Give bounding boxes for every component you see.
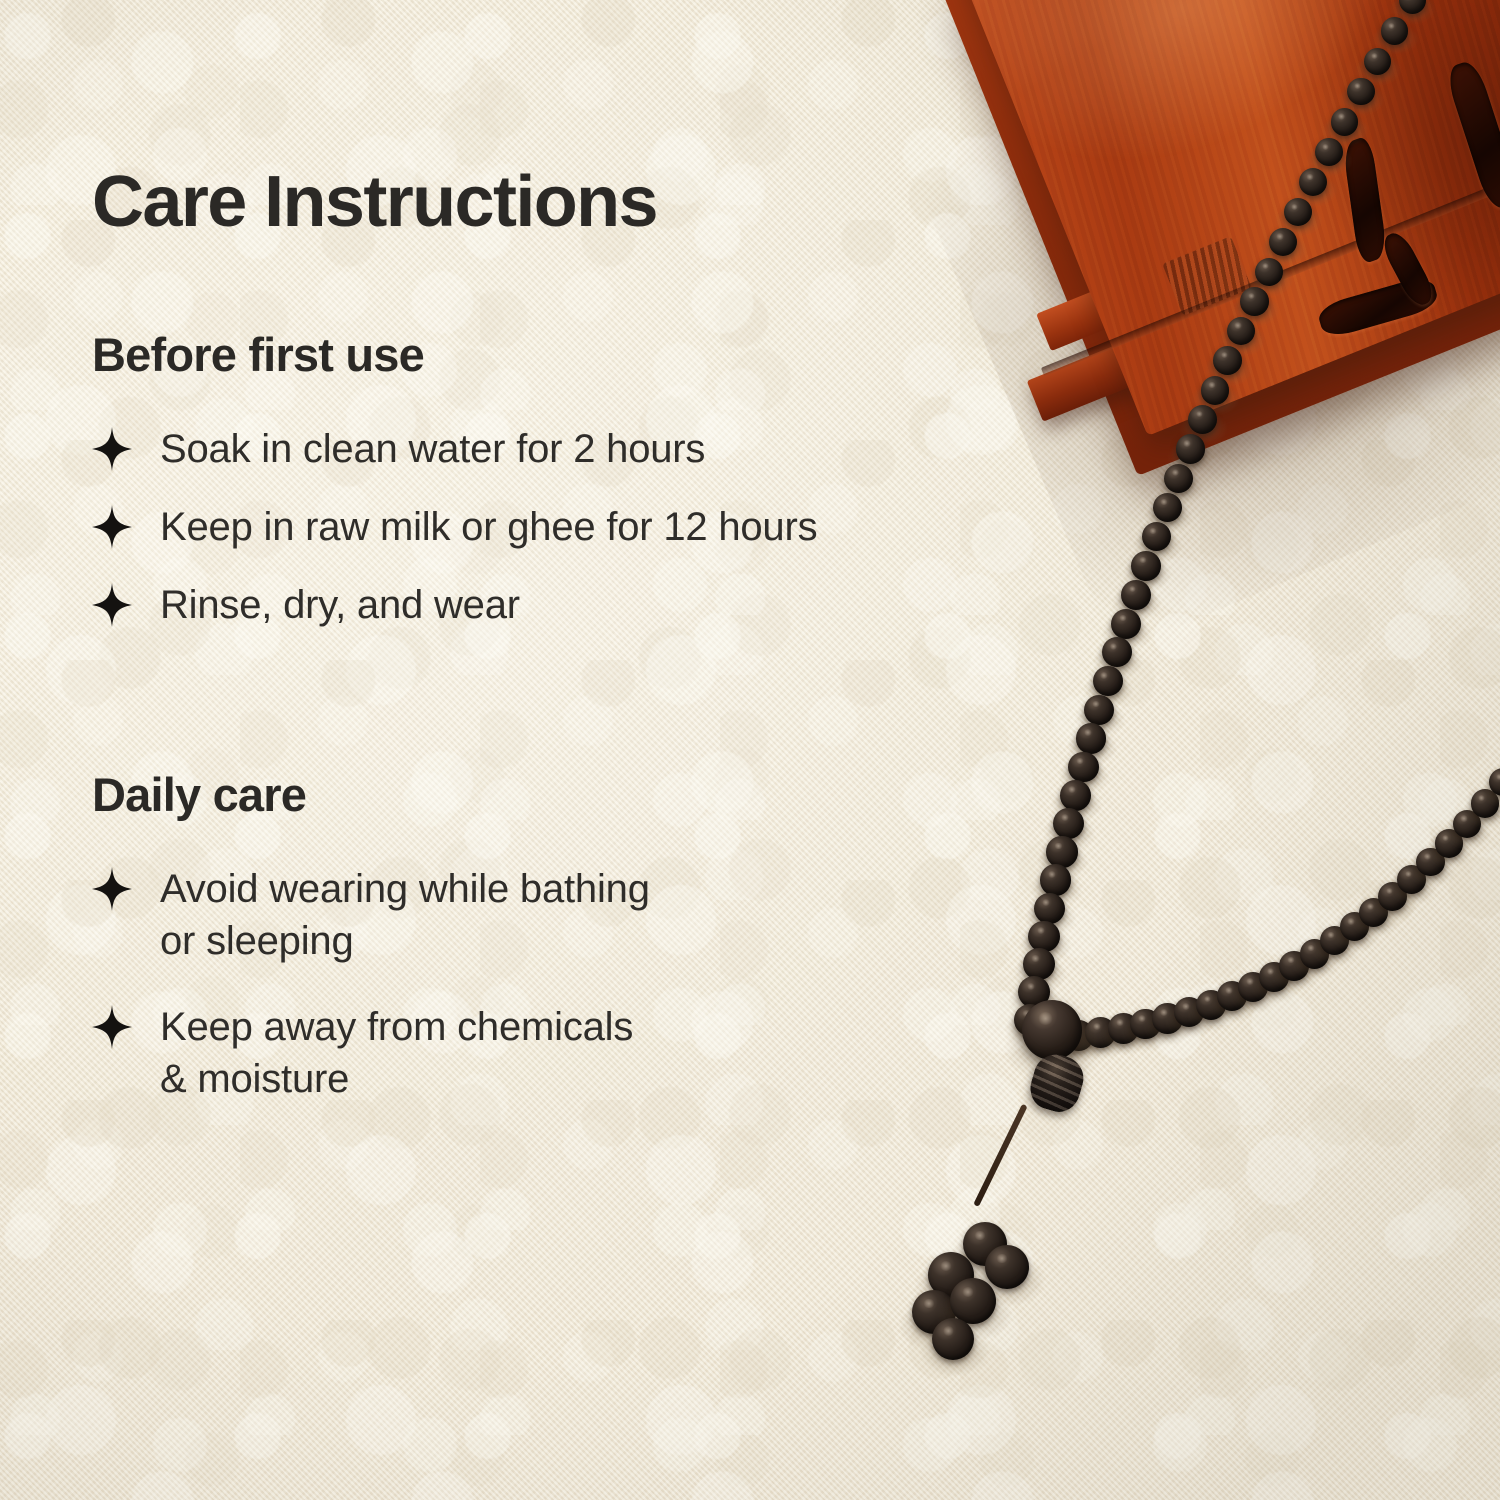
list-item-label: Keep away from chemicals & moisture bbox=[160, 1001, 660, 1105]
four-point-star-icon bbox=[92, 505, 132, 549]
list-item-label: Rinse, dry, and wear bbox=[160, 579, 520, 631]
four-point-star-icon bbox=[92, 583, 132, 627]
list-item-label: Avoid wearing while bathing or sleeping bbox=[160, 863, 660, 967]
list-item: Avoid wearing while bathing or sleeping bbox=[92, 863, 1082, 967]
text-content: Care Instructions Before first use Soak … bbox=[92, 0, 1082, 1500]
list-item: Keep away from chemicals & moisture bbox=[92, 1001, 1082, 1105]
bullet-list-before-first-use: Soak in clean water for 2 hours Keep in … bbox=[92, 423, 1082, 631]
four-point-star-icon bbox=[92, 1005, 132, 1049]
four-point-star-icon bbox=[92, 867, 132, 911]
four-point-star-icon bbox=[92, 427, 132, 471]
list-item: Soak in clean water for 2 hours bbox=[92, 423, 1082, 475]
list-item: Keep in raw milk or ghee for 12 hours bbox=[92, 501, 1082, 553]
list-item: Rinse, dry, and wear bbox=[92, 579, 1082, 631]
list-item-label: Keep in raw milk or ghee for 12 hours bbox=[160, 501, 817, 553]
list-item-label: Soak in clean water for 2 hours bbox=[160, 423, 705, 475]
care-instructions-infographic: Care Instructions Before first use Soak … bbox=[0, 0, 1500, 1500]
section-daily-care: Daily care Avoid wearing while bathing o… bbox=[92, 770, 1082, 1105]
bullet-list-daily-care: Avoid wearing while bathing or sleeping … bbox=[92, 863, 1082, 1105]
section-before-first-use: Before first use Soak in clean water for… bbox=[92, 330, 1082, 631]
page-title: Care Instructions bbox=[92, 166, 657, 238]
section-heading-daily-care: Daily care bbox=[92, 770, 1082, 819]
section-heading-before-first-use: Before first use bbox=[92, 330, 1082, 379]
